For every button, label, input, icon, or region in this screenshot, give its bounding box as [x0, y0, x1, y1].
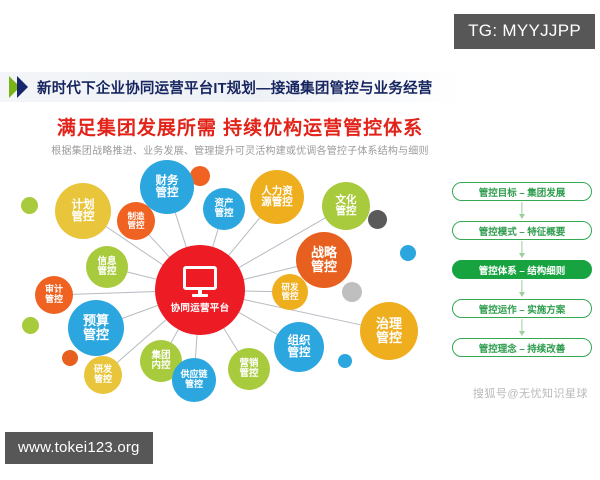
capability-node[interactable]: 供应链管控 — [172, 358, 216, 402]
capability-node-label-line: 财务 — [156, 175, 179, 187]
decorative-dot — [21, 197, 38, 214]
capability-node[interactable]: 文化管控 — [322, 182, 370, 230]
telegram-watermark-badge: TG: MYYJJPP — [454, 14, 595, 49]
flow-step[interactable]: 管控目标 – 集团发展 — [452, 182, 592, 201]
flow-step-label: 管控模式 – 特征概要 — [479, 224, 566, 238]
slide-title: 新时代下企业协同运营平台IT规划—接通集团管控与业务经营 — [37, 77, 432, 98]
capability-node[interactable]: 组织管控 — [274, 322, 324, 372]
capability-node-label-line: 管控 — [214, 209, 233, 219]
capability-node-label-line: 组织 — [288, 335, 311, 347]
capability-node[interactable]: 审计管控 — [35, 276, 73, 314]
spoke-line — [175, 212, 187, 249]
flow-arrow-down-icon — [452, 318, 592, 338]
capability-node[interactable]: 信息管控 — [86, 246, 128, 288]
capability-node[interactable]: 资产管控 — [203, 188, 245, 230]
decorative-dot — [400, 245, 416, 261]
spoke-line — [212, 228, 218, 249]
sohu-author-watermark: 搜狐号@无忧知识星球 — [473, 385, 588, 401]
flow-step[interactable]: 管控模式 – 特征概要 — [452, 221, 592, 240]
capability-node-label-line: 管控 — [83, 328, 109, 342]
monitor-icon — [183, 266, 217, 296]
decorative-dot — [368, 210, 387, 229]
capability-node[interactable]: 计划管控 — [55, 183, 111, 239]
capability-node-label-line: 管控 — [72, 211, 95, 223]
monitor-base-shape — [192, 294, 208, 297]
capability-node-label-line: 管控 — [45, 295, 63, 305]
capability-node-label-line: 内控 — [151, 361, 170, 371]
capability-node-label-line: 计划 — [72, 199, 95, 211]
spoke-line — [223, 327, 239, 352]
decorative-dot — [62, 350, 78, 366]
flow-step-label: 管控理念 – 持续改善 — [479, 341, 566, 355]
capability-node-label-line: 管控 — [311, 260, 337, 274]
capability-node-label-line: 管控 — [239, 369, 258, 379]
capability-node[interactable]: 制造管控 — [117, 202, 155, 240]
subheadline: 根据集团战略推进、业务发展、管理提升可灵活构建或优调各管控子体系结构与细则 — [0, 142, 480, 157]
slide-canvas: TG: MYYJJPP www.tokei123.org 搜狐号@无忧知识星球 … — [0, 0, 600, 480]
headline: 满足集团发展所需 持续优构运营管控体系 — [0, 113, 480, 140]
spoke-line — [171, 328, 180, 344]
flow-step[interactable]: 管控理念 – 持续改善 — [452, 338, 592, 357]
decorative-dot — [338, 354, 352, 368]
spoke-line — [243, 291, 273, 292]
spoke-line — [126, 272, 158, 280]
capability-node-label-line: 管控 — [281, 292, 298, 301]
chevron-right-navy-icon — [17, 76, 28, 98]
flow-arrow-down-icon — [452, 279, 592, 299]
decorative-dot — [342, 282, 362, 302]
central-hub-label: 协同运营平台 — [171, 300, 230, 314]
hub-and-spoke-diagram: 计划管控财务管控制造管控资产管控人力资源管控文化管控战略管控信息管控审计管控预算… — [0, 160, 440, 400]
capability-node[interactable]: 治理管控 — [360, 302, 418, 360]
capability-node-label-line: 战略 — [311, 246, 337, 260]
slide-title-bar: 新时代下企业协同运营平台IT规划—接通集团管控与业务经营 — [0, 72, 462, 102]
decorative-dot — [22, 317, 39, 334]
capability-node-label-line: 预算 — [83, 314, 109, 328]
flow-step-label: 管控体系 – 结构细则 — [479, 263, 566, 277]
spoke-line — [121, 305, 159, 319]
capability-node-label-line: 管控 — [156, 187, 179, 199]
capability-node[interactable]: 营销管控 — [228, 348, 270, 390]
monitor-screen-shape — [183, 266, 217, 290]
capability-node-label-line: 管控 — [376, 331, 402, 345]
flow-step[interactable]: 管控运作 – 实施方案 — [452, 299, 592, 318]
spoke-line — [237, 311, 278, 335]
capability-node-label-line: 管控 — [127, 221, 144, 230]
capability-node-label-line: 管控 — [336, 206, 357, 217]
capability-node[interactable]: 研发管控 — [84, 356, 122, 394]
spoke-line — [195, 333, 197, 359]
spoke-line — [148, 234, 171, 258]
capability-node[interactable]: 预算管控 — [68, 300, 124, 356]
capability-node-label-line: 治理 — [376, 317, 402, 331]
capability-node-label-line: 管控 — [185, 380, 203, 390]
capability-node-label-line: 管控 — [97, 267, 116, 277]
site-url-watermark: www.tokei123.org — [5, 432, 153, 464]
spoke-line — [72, 291, 157, 294]
capability-node[interactable]: 人力资源管控 — [250, 170, 304, 224]
governance-flow-panel: 管控目标 – 集团发展管控模式 – 特征概要管控体系 – 结构细则管控运作 – … — [452, 182, 592, 357]
capability-node-label-line: 管控 — [288, 347, 311, 359]
flow-step-active[interactable]: 管控体系 – 结构细则 — [452, 260, 592, 279]
flow-step-label: 管控运作 – 实施方案 — [479, 302, 566, 316]
flow-arrow-down-icon — [452, 201, 592, 221]
central-hub-node[interactable]: 协同运营平台 — [155, 245, 245, 335]
capability-node[interactable]: 战略管控 — [296, 232, 352, 288]
capability-node[interactable]: 研发管控 — [272, 274, 308, 310]
flow-step-label: 管控目标 – 集团发展 — [479, 185, 566, 199]
capability-node-label-line: 管控 — [94, 375, 112, 385]
double-chevron-icon — [9, 76, 28, 98]
capability-node-label-line: 源管控 — [261, 197, 293, 208]
flow-arrow-down-icon — [452, 240, 592, 260]
